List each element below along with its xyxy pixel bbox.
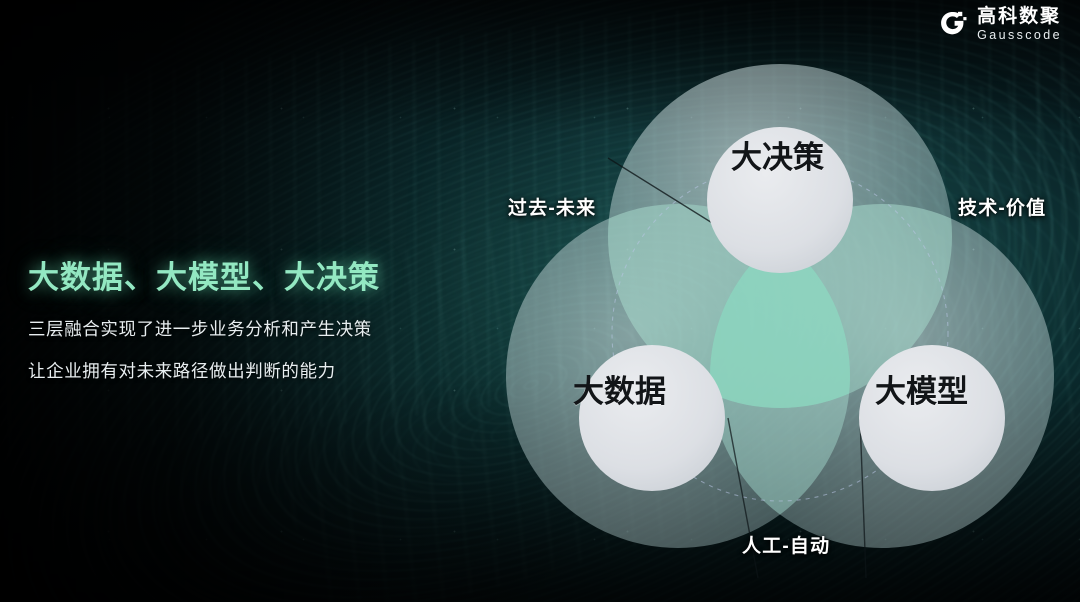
axis-label-technology-value: 技术-价值 [958,193,1046,220]
slide-canvas: 高科数聚 Gausscode 大数据、大模型、大决策 三层融合实现了进一步业务分… [0,0,1080,602]
axis-label-past-future: 过去-未来 [508,193,596,220]
subtitle-line-2: 让企业拥有对未来路径做出判断的能力 [28,358,458,383]
axis-label-manual-automatic: 人工-自动 [742,531,830,558]
venn-diagram: 业务场景 人工智能 知识图谱 [500,18,1060,578]
venn-label-big-decision: 大决策 [731,132,824,177]
venn-svg [500,18,1060,578]
venn-label-big-data: 大数据 [573,366,666,411]
headline-block: 大数据、大模型、大决策 三层融合实现了进一步业务分析和产生决策 让企业拥有对未来… [28,252,458,383]
venn-label-big-model: 大模型 [875,366,968,411]
subtitle-line-1: 三层融合实现了进一步业务分析和产生决策 [28,316,458,341]
page-title: 大数据、大模型、大决策 [28,252,458,297]
